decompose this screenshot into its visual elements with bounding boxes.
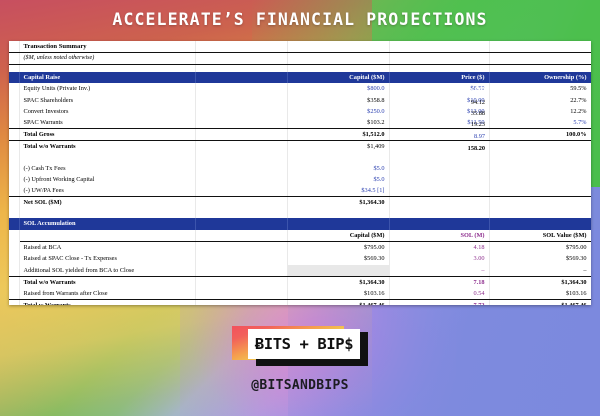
table-row-total-gross: Total Gross $1,512.0 100.0% bbox=[9, 129, 591, 141]
spacer-cell bbox=[389, 174, 489, 185]
row-label: Total w/o Warrants bbox=[19, 141, 195, 153]
spacer-cell bbox=[195, 242, 287, 254]
row-gutter bbox=[9, 185, 19, 197]
row-gutter bbox=[9, 65, 19, 72]
spacer-cell bbox=[287, 153, 389, 163]
spacer-cell bbox=[195, 230, 287, 242]
row-label: Equity Units (Private Inv.) bbox=[19, 83, 195, 94]
page-title: ACCELERATE’S FINANCIAL PROJECTIONS bbox=[112, 10, 487, 29]
cell-capital: $1,512.0 bbox=[287, 129, 389, 141]
spacer-cell bbox=[287, 208, 389, 218]
cell-sol-value: $103.16 bbox=[489, 288, 591, 300]
social-handle: @BITSANDBIPS bbox=[251, 378, 349, 393]
spacer-cell bbox=[389, 163, 489, 174]
spacer-cell bbox=[195, 141, 287, 153]
cell-sol: 4.18 bbox=[389, 242, 489, 254]
cell-capital: $1,364.30 bbox=[287, 197, 389, 209]
table-row-fee: (-) UW/PA Fees $34.5 [1] bbox=[9, 185, 591, 197]
table-row: SPAC Shareholders $358.8 $10.00 22.7% bbox=[9, 95, 591, 106]
cell-sol-value: $569.30 bbox=[489, 253, 591, 264]
table-row-sol-total-wo-warrants: Total w/o Warrants $1,364.30 7.18 $1,364… bbox=[9, 276, 591, 288]
row-gutter bbox=[9, 242, 19, 254]
cell-capital: $5.0 bbox=[287, 163, 389, 174]
row-gutter bbox=[9, 174, 19, 185]
cell-ownership: 12.2% bbox=[489, 106, 591, 117]
table-row-fee: (-) Upfront Working Capital $5.0 bbox=[9, 174, 591, 185]
cell-capital: $358.8 bbox=[287, 95, 389, 106]
table-row-fee: (-) Cash Tx Fees $5.0 bbox=[9, 163, 591, 174]
cell-ownership: 22.7% bbox=[489, 95, 591, 106]
spacer-cell bbox=[287, 41, 389, 53]
cell-price bbox=[389, 141, 489, 153]
row-label: (-) Upfront Working Capital bbox=[19, 174, 195, 185]
spacer-cell bbox=[195, 163, 287, 174]
row-label: Total Gross bbox=[19, 129, 195, 141]
sol-accumulation-header-label: SOL Accumulation bbox=[19, 218, 195, 230]
spacer-cell bbox=[389, 197, 489, 209]
row-gutter bbox=[9, 265, 19, 277]
row-label: Additional SOL yielded from BCA to Close bbox=[19, 265, 195, 277]
column-header-sol-value: SOL Value ($M) bbox=[489, 230, 591, 242]
spacer-cell bbox=[489, 208, 591, 218]
row-gutter bbox=[9, 106, 19, 117]
spacer-cell bbox=[19, 208, 195, 218]
cell-capital: $103.16 bbox=[287, 288, 389, 300]
table-row: Convert Investors $250.0 $13.00 12.2% bbox=[9, 106, 591, 117]
spacer-cell bbox=[287, 65, 389, 72]
row-gutter bbox=[9, 163, 19, 174]
table-row: Equity Units (Private Inv.) $800.0 $8.50… bbox=[9, 83, 591, 94]
row-gutter bbox=[9, 72, 19, 84]
row-gutter bbox=[9, 83, 19, 94]
table-row-net-sol: Net SOL ($M) $1,364.30 bbox=[9, 197, 591, 209]
spacer-cell bbox=[195, 95, 287, 106]
sol-header-fill bbox=[389, 218, 489, 230]
spacer-cell bbox=[195, 53, 287, 65]
row-gutter bbox=[9, 288, 19, 300]
spacer-cell bbox=[489, 41, 591, 53]
cell-capital: $5.0 bbox=[287, 174, 389, 185]
cell-sol-value: $795.00 bbox=[489, 242, 591, 254]
spacer-cell bbox=[195, 197, 287, 209]
row-label: SPAC Warrants bbox=[19, 117, 195, 129]
cell-sol: 0.54 bbox=[389, 288, 489, 300]
table-row: Raised at SPAC Close - Tx Expenses $569.… bbox=[9, 253, 591, 264]
spacer-cell bbox=[19, 153, 195, 163]
row-gutter bbox=[9, 95, 19, 106]
spacer-cell bbox=[489, 65, 591, 72]
spacer-cell bbox=[195, 129, 287, 141]
cell-sol: 7.18 bbox=[389, 276, 489, 288]
row-gutter bbox=[9, 117, 19, 129]
table-row: Additional SOL yielded from BCA to Close… bbox=[9, 265, 591, 277]
row-gutter bbox=[9, 53, 19, 65]
column-header-ownership: Ownership (%) bbox=[489, 72, 591, 84]
cell-sol: 3.00 bbox=[389, 253, 489, 264]
table-row-section-title: Transaction Summary bbox=[9, 41, 591, 53]
cell-sol-value: $1,364.30 bbox=[489, 276, 591, 288]
row-gutter bbox=[9, 276, 19, 288]
spacer-cell bbox=[389, 41, 489, 53]
cell-capital: $1,467.46 bbox=[287, 300, 389, 305]
capital-raise-header-fill bbox=[195, 72, 287, 84]
table-row-sol-column-headers: Capital ($M) SOL (M) SOL Value ($M) bbox=[9, 230, 591, 242]
cell-price: $11.50 bbox=[389, 117, 489, 129]
row-label: Net SOL ($M) bbox=[19, 197, 195, 209]
units-note-cell: ($M, unless noted otherwise) bbox=[19, 53, 195, 65]
table-row-warrants-after-close: Raised from Warrants after Close $103.16… bbox=[9, 288, 591, 300]
column-header-capital: Capital ($M) bbox=[287, 72, 389, 84]
cell-ownership: 5.7% bbox=[489, 117, 591, 129]
cell-price: $13.00 bbox=[389, 106, 489, 117]
spacer-cell bbox=[489, 153, 591, 163]
row-gutter bbox=[9, 129, 19, 141]
logo-plate: ɃITS + BIP$ bbox=[248, 329, 360, 359]
spacer-cell bbox=[19, 65, 195, 72]
spacer-cell bbox=[195, 41, 287, 53]
sol-header-fill bbox=[287, 218, 389, 230]
spacer-cell bbox=[195, 265, 287, 277]
spacer-cell bbox=[489, 163, 591, 174]
cell-price bbox=[389, 129, 489, 141]
table-row: SPAC Warrants $103.2 $11.50 5.7% bbox=[9, 117, 591, 129]
row-gutter bbox=[9, 141, 19, 153]
spacer-cell bbox=[489, 53, 591, 65]
row-label: Total w Warrants bbox=[19, 300, 195, 305]
row-label: Raised at SPAC Close - Tx Expenses bbox=[19, 253, 195, 264]
bits-and-bips-logo: ɃITS + BIP$ bbox=[232, 326, 368, 366]
row-gutter bbox=[9, 153, 19, 163]
cell-price: $10.00 bbox=[389, 95, 489, 106]
spacer-cell bbox=[389, 185, 489, 197]
cell-ownership: 59.5% bbox=[489, 83, 591, 94]
cell-capital: $800.0 bbox=[287, 83, 389, 94]
table-row-spacer bbox=[9, 153, 591, 163]
cell-capital-footnote: $34.5 [1] bbox=[287, 185, 389, 197]
cell-capital: $795.00 bbox=[287, 242, 389, 254]
row-label: Convert Investors bbox=[19, 106, 195, 117]
spacer-cell bbox=[195, 185, 287, 197]
spacer-cell bbox=[195, 208, 287, 218]
column-header-capital: Capital ($M) bbox=[287, 230, 389, 242]
cell-capital: $1,409 bbox=[287, 141, 389, 153]
spacer-cell bbox=[195, 288, 287, 300]
spacer-cell bbox=[195, 106, 287, 117]
cell-ownership bbox=[489, 141, 591, 153]
capital-raise-header-label: Capital Raise bbox=[19, 72, 195, 84]
row-gutter bbox=[9, 300, 19, 305]
spacer-cell bbox=[195, 174, 287, 185]
cell-ownership: 100.0% bbox=[489, 129, 591, 141]
spacer-cell bbox=[195, 300, 287, 305]
cell-sol-value: – bbox=[489, 265, 591, 277]
column-header-price: Price ($) bbox=[389, 72, 489, 84]
row-label: Total w/o Warrants bbox=[19, 276, 195, 288]
table-row-total-wo-warrants: Total w/o Warrants $1,409 bbox=[9, 141, 591, 153]
cell-sol-value: $1,467.46 bbox=[489, 300, 591, 305]
spacer-cell bbox=[19, 230, 195, 242]
spreadsheet-panel: Transaction Summary ($M, unless noted ot… bbox=[9, 41, 591, 305]
spacer-cell bbox=[287, 53, 389, 65]
cell-price: $8.50 bbox=[389, 83, 489, 94]
row-gutter bbox=[9, 218, 19, 230]
page-title-bar: ACCELERATE’S FINANCIAL PROJECTIONS bbox=[0, 0, 600, 38]
cell-capital: $103.2 bbox=[287, 117, 389, 129]
row-label: (-) Cash Tx Fees bbox=[19, 163, 195, 174]
spacer-cell bbox=[389, 65, 489, 72]
cell-capital bbox=[287, 265, 389, 277]
spacer-cell bbox=[195, 83, 287, 94]
spacer-cell bbox=[389, 153, 489, 163]
spacer-cell bbox=[195, 153, 287, 163]
spacer-cell bbox=[195, 117, 287, 129]
row-label: (-) UW/PA Fees bbox=[19, 185, 195, 197]
row-gutter bbox=[9, 253, 19, 264]
spacer-cell bbox=[489, 174, 591, 185]
section-title-cell: Transaction Summary bbox=[19, 41, 195, 53]
footer-branding: ɃITS + BIP$ @BITSANDBIPS bbox=[0, 326, 600, 393]
row-gutter bbox=[9, 208, 19, 218]
row-label: Raised at BCA bbox=[19, 242, 195, 254]
row-gutter bbox=[9, 230, 19, 242]
sol-header-fill bbox=[195, 218, 287, 230]
cell-sol: – bbox=[389, 265, 489, 277]
spacer-cell bbox=[489, 197, 591, 209]
row-label: SPAC Shareholders bbox=[19, 95, 195, 106]
cell-capital: $1,364.30 bbox=[287, 276, 389, 288]
table-row-spacer bbox=[9, 208, 591, 218]
table-row-sol-total-w-warrants: Total w Warrants $1,467.46 7.72 $1,467.4… bbox=[9, 300, 591, 305]
sol-header-fill bbox=[489, 218, 591, 230]
table-row-units-note: ($M, unless noted otherwise) bbox=[9, 53, 591, 65]
cell-capital: $569.30 bbox=[287, 253, 389, 264]
spacer-cell bbox=[389, 208, 489, 218]
section-header-capital-raise: Capital Raise Capital ($M) Price ($) Own… bbox=[9, 72, 591, 84]
row-gutter bbox=[9, 197, 19, 209]
spacer-cell bbox=[195, 65, 287, 72]
row-gutter bbox=[9, 41, 19, 53]
spacer-cell bbox=[389, 53, 489, 65]
row-label: Raised from Warrants after Close bbox=[19, 288, 195, 300]
spacer-cell bbox=[489, 185, 591, 197]
cell-sol: 7.72 bbox=[389, 300, 489, 305]
table-row: Raised at BCA $795.00 4.18 $795.00 bbox=[9, 242, 591, 254]
spacer-cell bbox=[195, 276, 287, 288]
table-row-spacer bbox=[9, 65, 591, 72]
transaction-summary-table: Transaction Summary ($M, unless noted ot… bbox=[9, 41, 591, 305]
cell-capital: $250.0 bbox=[287, 106, 389, 117]
spacer-cell bbox=[195, 253, 287, 264]
section-header-sol-accumulation: SOL Accumulation bbox=[9, 218, 591, 230]
logo-text: ɃITS + BIP$ bbox=[255, 335, 353, 353]
column-header-sol: SOL (M) bbox=[389, 230, 489, 242]
